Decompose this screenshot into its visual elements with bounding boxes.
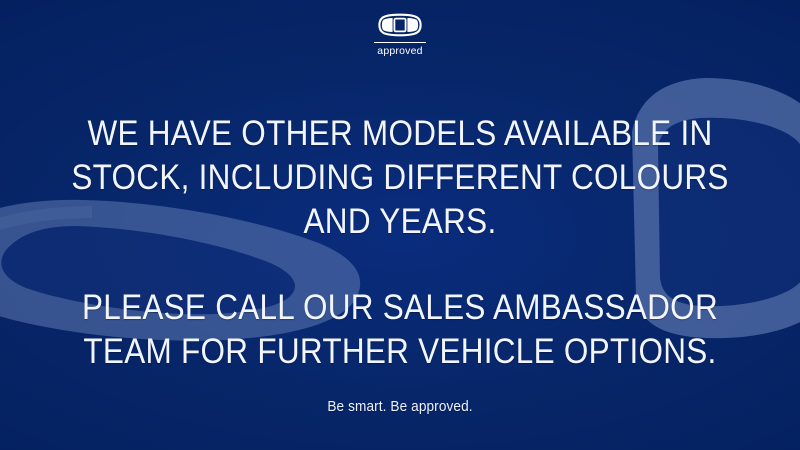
brand-logo: approved [0, 13, 800, 57]
headline-paragraph-2: PLEASE CALL OUR SALES AMBASSADOR TEAM FO… [71, 286, 730, 374]
logo-wordmark: approved [377, 46, 422, 57]
promo-slide: approved WE HAVE OTHER MODELS AVAILABLE … [0, 0, 800, 450]
headline-paragraph-1: WE HAVE OTHER MODELS AVAILABLE IN STOCK,… [71, 112, 730, 244]
message-block: WE HAVE OTHER MODELS AVAILABLE IN STOCK,… [0, 112, 800, 374]
car-top-view-icon [378, 13, 422, 37]
footer-tagline: Be smart. Be approved. [24, 399, 776, 415]
logo-divider [374, 42, 426, 43]
